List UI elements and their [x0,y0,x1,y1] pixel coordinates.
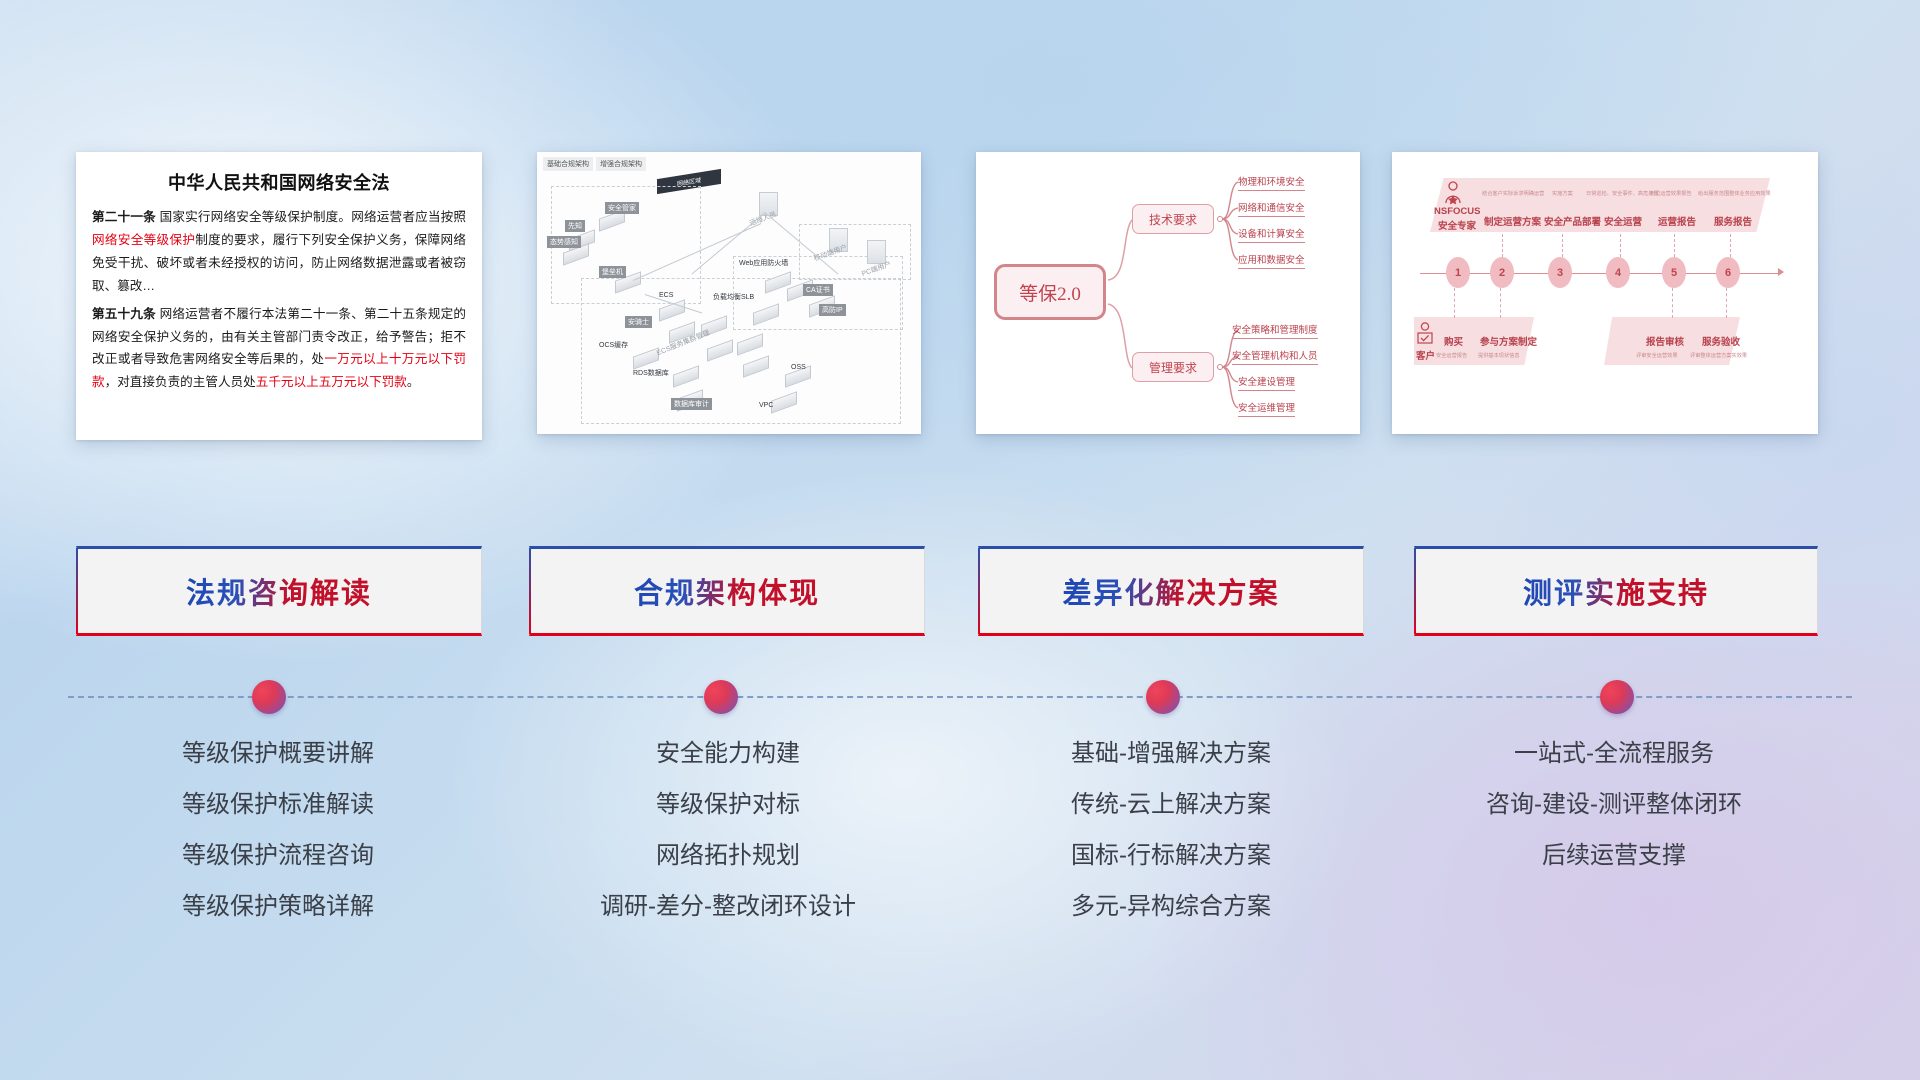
list-item: 传统-云上解决方案 [972,793,1370,817]
feature-column-4: 一站式-全流程服务 咨询-建设-测评整体闭环 后续运营支撑 [1406,742,1822,895]
feature-column-1: 等级保护概要讲解 等级保护标准解读 等级保护流程咨询 等级保护策略详解 [72,742,484,946]
section-title-box-1[interactable]: 法规咨询解读 [76,546,482,636]
timeline-dot-1[interactable] [252,680,286,714]
timeline-dot-4[interactable] [1600,680,1634,714]
timeline-dot-2[interactable] [704,680,738,714]
timeline-dot-3[interactable] [1146,680,1180,714]
list-item: 等级保护标准解读 [72,793,484,817]
list-item: 等级保护策略详解 [72,895,484,919]
list-item: 国标-行标解决方案 [972,844,1370,868]
section-title-label: 测评实施支持 [1523,570,1709,612]
list-item: 咨询-建设-测评整体闭环 [1406,793,1822,817]
section-title-box-3[interactable]: 差异化解决方案 [978,546,1364,636]
list-item: 一站式-全流程服务 [1406,742,1822,766]
list-item: 等级保护对标 [524,793,932,817]
list-item: 安全能力构建 [524,742,932,766]
section-title-label: 法规咨询解读 [186,570,372,612]
list-item: 等级保护流程咨询 [72,844,484,868]
list-item: 多元-异构综合方案 [972,895,1370,919]
feature-column-3: 基础-增强解决方案 传统-云上解决方案 国标-行标解决方案 多元-异构综合方案 [972,742,1370,946]
list-item: 等级保护概要讲解 [72,742,484,766]
section-title-box-2[interactable]: 合规架构体现 [529,546,925,636]
feature-column-2: 安全能力构建 等级保护对标 网络拓扑规划 调研-差分-整改闭环设计 [524,742,932,946]
list-item: 调研-差分-整改闭环设计 [524,895,932,919]
section-title-label: 合规架构体现 [634,570,820,612]
list-item: 基础-增强解决方案 [972,742,1370,766]
timeline-dashed-line [68,696,1852,698]
section-title-label: 差异化解决方案 [1062,570,1279,612]
list-item: 后续运营支撑 [1406,844,1822,868]
list-item: 网络拓扑规划 [524,844,932,868]
section-title-box-4[interactable]: 测评实施支持 [1414,546,1818,636]
